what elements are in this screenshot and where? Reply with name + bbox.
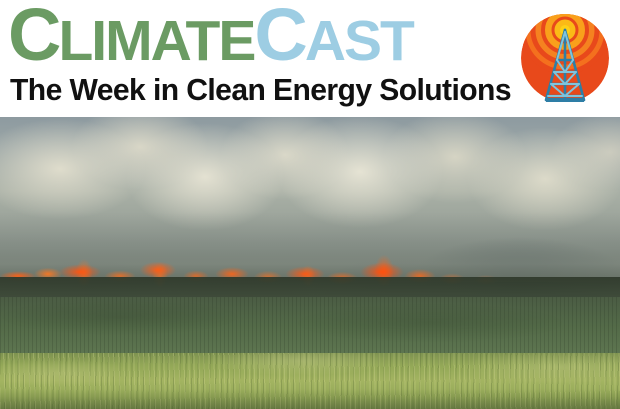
wordmark-climate-rest: LIMATE: [58, 9, 254, 73]
masthead-header: CLIMATECAST The Week in Clean Energy Sol…: [0, 0, 620, 117]
wordmark-cast-rest: AST: [305, 9, 413, 73]
wordmark-climate-initial: C: [8, 0, 58, 76]
foreground-shadow: [0, 389, 620, 409]
climatecast-newsletter-banner: CLIMATECAST The Week in Clean Energy Sol…: [0, 0, 620, 409]
wildfire-photo: [0, 117, 620, 409]
climatecast-wordmark: CLIMATECAST: [8, 0, 413, 72]
wordmark-cast-initial: C: [254, 0, 304, 76]
broadcast-tower-icon: [516, 8, 614, 108]
masthead-tagline: The Week in Clean Energy Solutions: [10, 74, 511, 105]
